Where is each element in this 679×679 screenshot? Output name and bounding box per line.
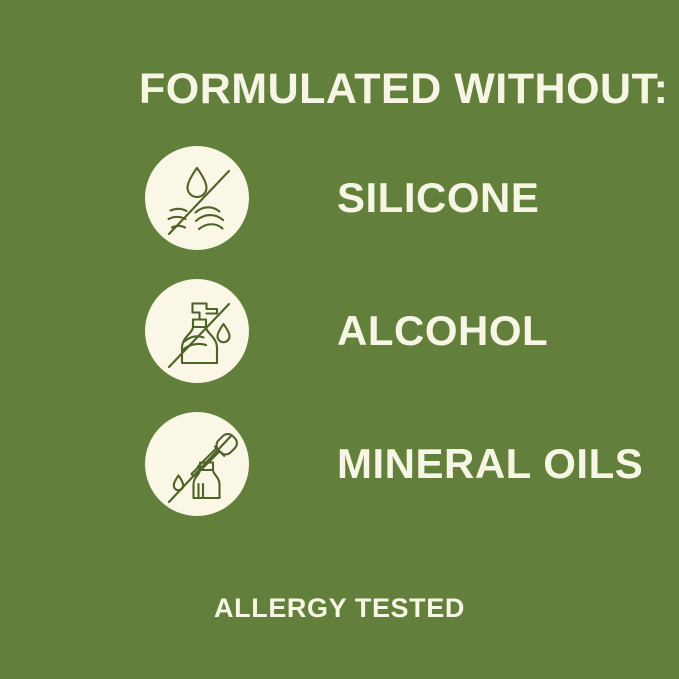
- list-item-label: MINERAL OILS: [337, 441, 643, 487]
- page-title: FORMULATED WITHOUT:: [139, 64, 668, 114]
- icon-badge: [145, 412, 249, 516]
- list-item: ALCOHOL: [145, 279, 625, 383]
- icon-badge: [145, 279, 249, 383]
- list-item-label: ALCOHOL: [337, 308, 548, 354]
- formulated-without-card: FORMULATED WITHOUT:: [0, 0, 679, 679]
- no-mineral-oil-dropper-bottle-icon: [145, 412, 249, 516]
- no-silicone-droplet-waves-icon: [145, 146, 249, 250]
- list-item: SILICONE: [145, 146, 625, 250]
- no-alcohol-pump-bottle-icon: [145, 279, 249, 383]
- list-item: MINERAL OILS: [145, 412, 625, 516]
- list-item-label: SILICONE: [337, 175, 539, 221]
- icon-badge: [145, 146, 249, 250]
- allergy-tested-note: ALLERGY TESTED: [0, 592, 679, 624]
